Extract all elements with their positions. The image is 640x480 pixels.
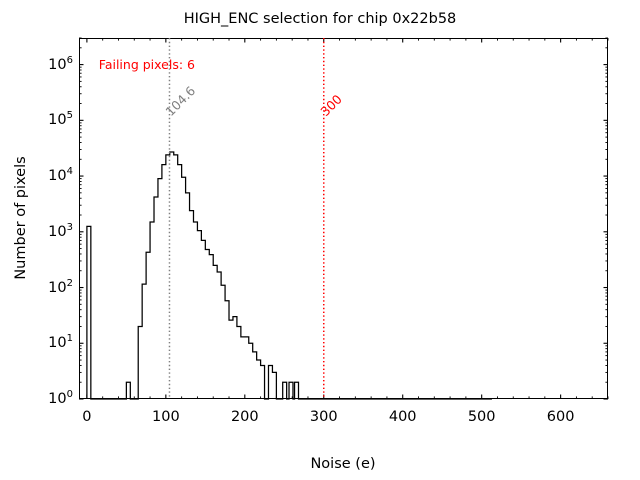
x-tick-label: 400: [389, 409, 417, 425]
matplotlib-figure: HIGH_ENC selection for chip 0x22b58 Fail…: [0, 0, 640, 480]
chart-title: HIGH_ENC selection for chip 0x22b58: [0, 11, 640, 27]
y-tick-label: 101: [48, 335, 73, 351]
vertical-marker-lines: [79, 38, 608, 399]
y-tick-label: 106: [48, 57, 73, 73]
failing-pixels-annotation: Failing pixels: 6: [99, 57, 195, 72]
y-tick-label: 105: [48, 112, 73, 128]
x-tick-label: 600: [547, 409, 575, 425]
y-tick-label: 103: [48, 224, 73, 240]
plot-area: Failing pixels: 6 Number of pixels Noise…: [79, 38, 608, 399]
y-axis-label: Number of pixels: [13, 156, 29, 279]
x-tick-label: 300: [310, 409, 338, 425]
y-tick-label: 100: [48, 391, 73, 407]
x-tick-label: 200: [231, 409, 259, 425]
y-tick-label: 104: [48, 168, 73, 184]
x-tick-label: 0: [82, 409, 91, 425]
x-axis-label: Noise (e): [310, 456, 375, 472]
x-tick-label: 100: [152, 409, 180, 425]
x-tick-label: 500: [468, 409, 496, 425]
y-tick-label: 102: [48, 280, 73, 296]
